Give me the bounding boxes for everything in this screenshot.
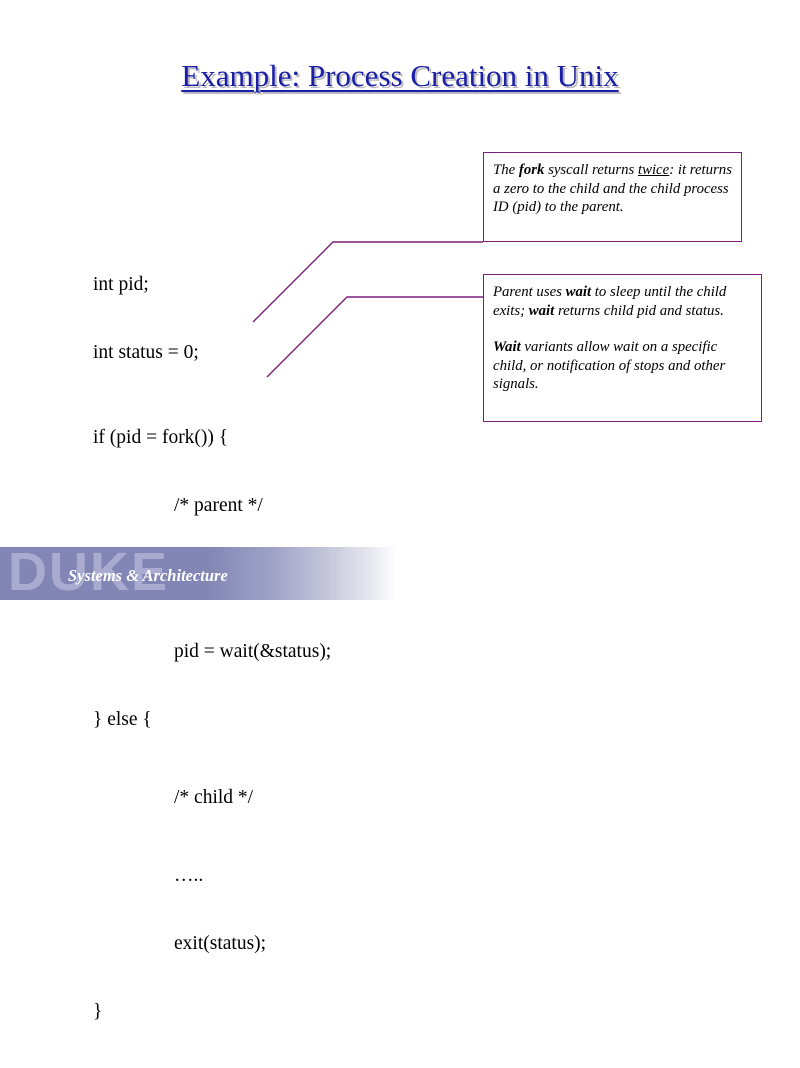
code-line: pid = wait(&status); [93, 640, 331, 664]
page-title-text: Example: Process Creation in Unix [181, 57, 618, 95]
page-title: Example: Process Creation in Unix [0, 57, 800, 95]
code-line: /* child */ [93, 786, 331, 810]
code-line: /* parent */ [93, 494, 331, 518]
callout-fork-pre: The [493, 162, 519, 178]
callout-wait-variants-text: variants allow wait on a specific child,… [493, 339, 725, 392]
callout-wait-paragraph-2: Wait variants allow wait on a specific c… [493, 338, 752, 394]
callout-fork-emphasis: twice [638, 162, 669, 178]
code-line: if (pid = fork()) { [93, 426, 331, 450]
code-listing: int pid; int status = 0; if (pid = fork(… [93, 229, 331, 1068]
code-line: exit(status); [93, 932, 331, 956]
callout-fork-mid: syscall returns [544, 162, 638, 178]
callout-fork-keyword: fork [519, 162, 544, 178]
slide-canvas: Example: Process Creation in Unix int pi… [0, 0, 800, 600]
callout-wait-post: returns child pid and status. [554, 303, 724, 319]
callout-wait-pre: Parent uses [493, 284, 566, 300]
code-line: int pid; [93, 273, 331, 297]
code-line: int status = 0; [93, 341, 331, 365]
footer-tagline: Systems & Architecture [68, 566, 228, 586]
callout-wait-keyword-1: wait [566, 284, 592, 300]
callout-box-wait: Parent uses wait to sleep until the chil… [483, 274, 762, 422]
code-line: ….. [93, 864, 331, 888]
callout-wait-keyword-2: wait [529, 303, 555, 319]
callout-wait-paragraph-1: Parent uses wait to sleep until the chil… [493, 283, 752, 320]
callout-fork-text: The fork syscall returns twice: it retur… [493, 161, 732, 217]
callout-box-fork: The fork syscall returns twice: it retur… [483, 152, 742, 242]
code-line: } else { [93, 708, 331, 732]
callout-wait-keyword-3: Wait [493, 339, 521, 355]
code-line: } [93, 1000, 331, 1024]
